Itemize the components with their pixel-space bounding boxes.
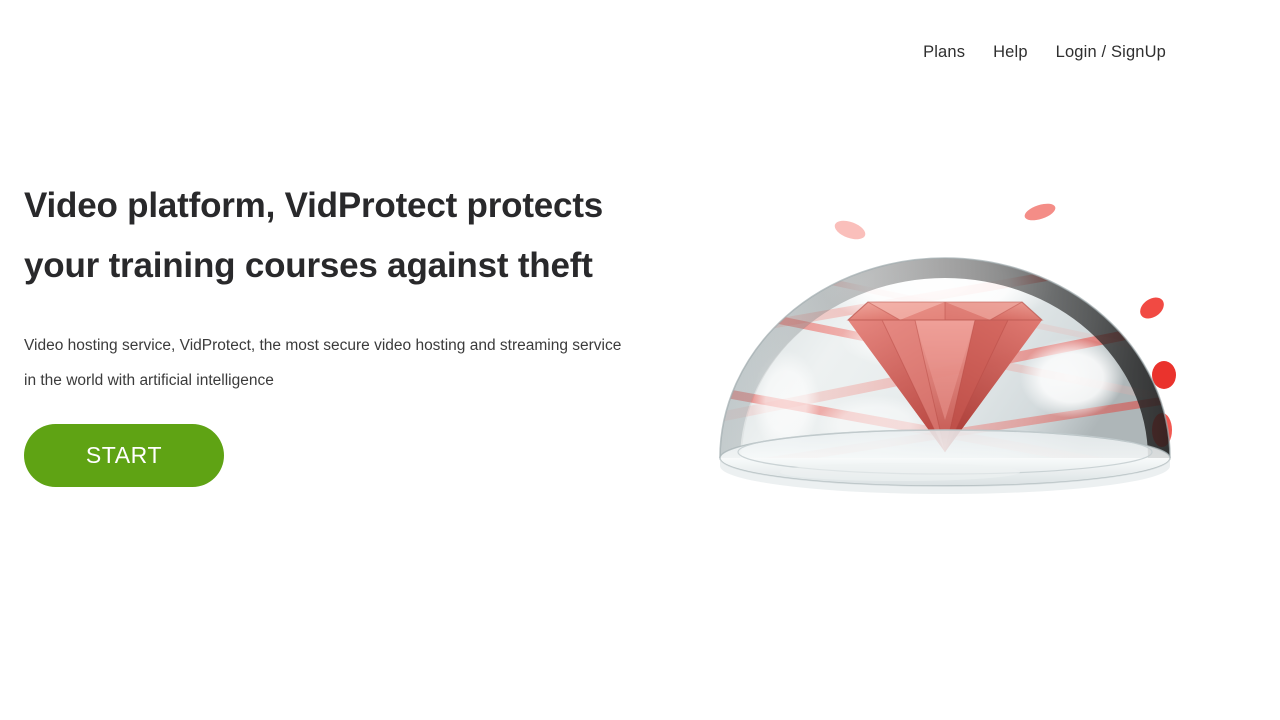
hero-illustration [700,190,1190,510]
cta-container: START [24,424,644,487]
glass-dome-diamond-graphic [700,190,1190,510]
hero-subtitle: Video hosting service, VidProtect, the m… [24,328,624,398]
top-navigation: Plans Help Login / SignUp [0,0,1280,104]
start-button[interactable]: START [24,424,224,487]
hero-text-block: Video platform, VidProtect protects your… [24,176,644,487]
nav-link-help[interactable]: Help [991,40,1030,65]
nav-links: Plans Help Login / SignUp [921,40,1168,65]
landing-page: Plans Help Login / SignUp Video platform… [0,0,1280,720]
dome-base [720,430,1170,494]
page-title: Video platform, VidProtect protects your… [24,176,624,296]
nav-link-plans[interactable]: Plans [921,40,967,65]
nav-link-login-signup[interactable]: Login / SignUp [1054,40,1168,65]
